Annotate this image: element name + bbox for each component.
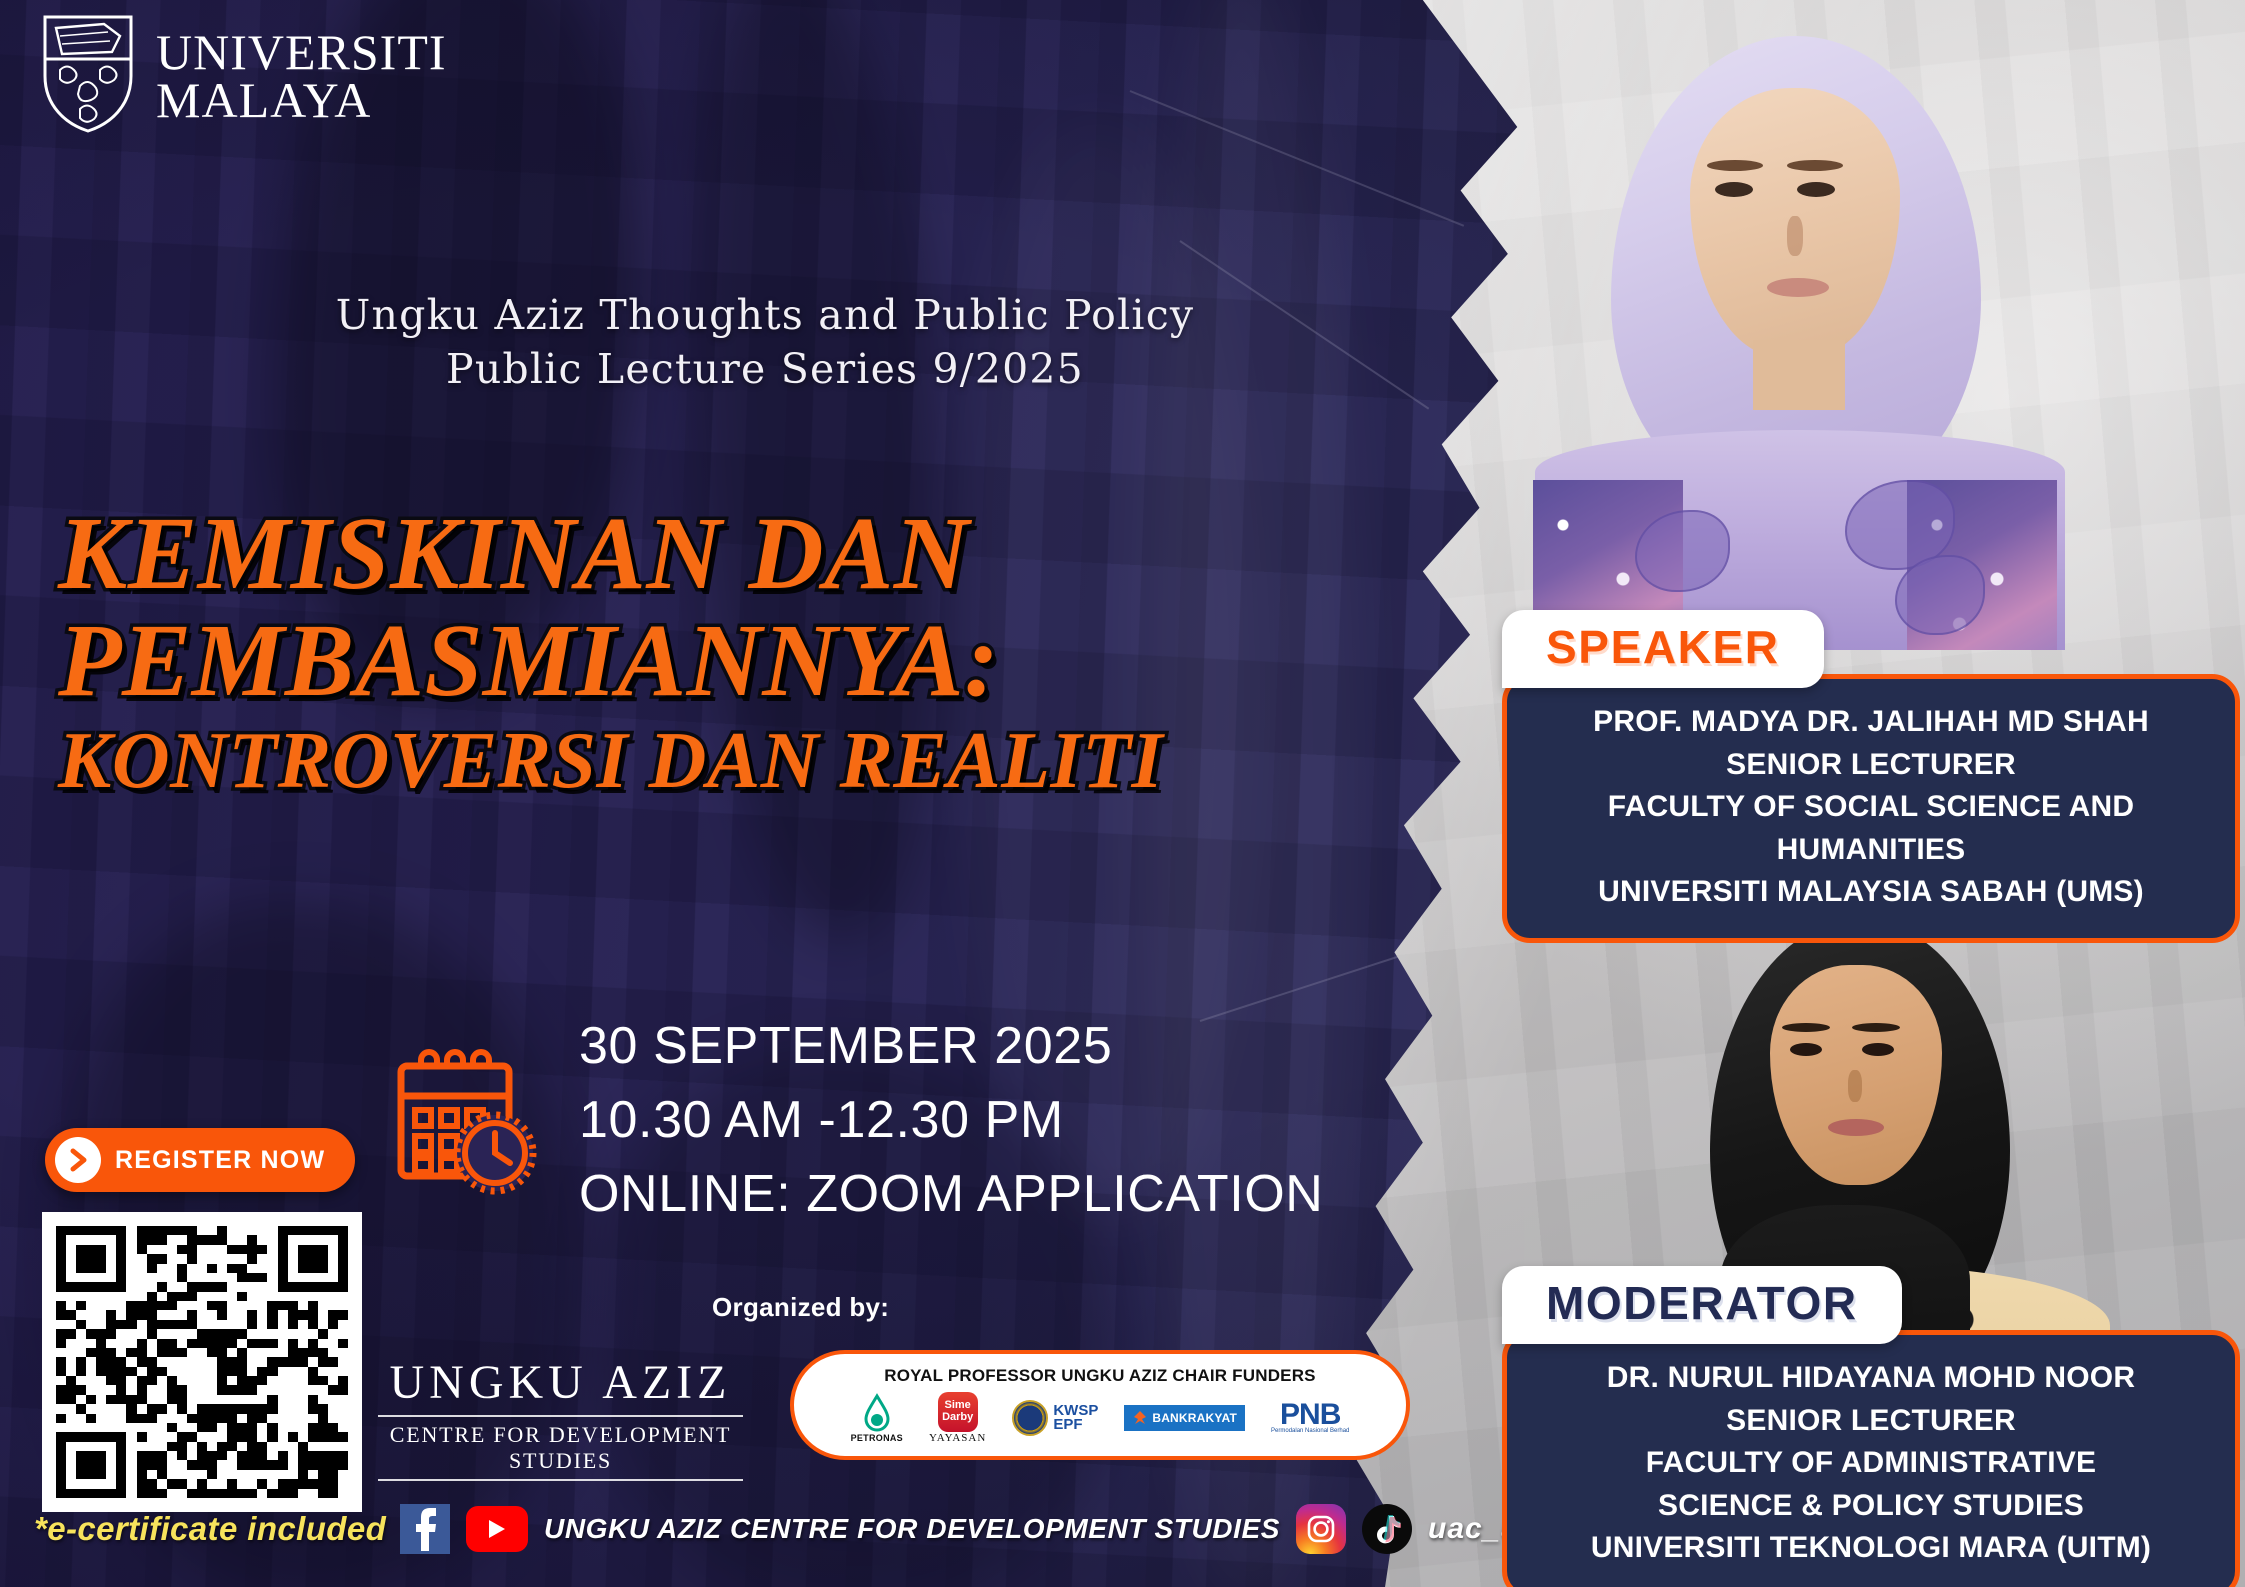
- moderator-brow: [1852, 1023, 1900, 1032]
- speaker-details: PROF. MADYA DR. JALIHAH MD SHAH SENIOR L…: [1502, 674, 2240, 943]
- main-title-line-1: KEMISKINAN DAN: [58, 500, 1408, 607]
- university-name-line2: MALAYA: [156, 77, 447, 125]
- uacds-logo-subtitle: CENTRE FOR DEVELOPMENT STUDIES: [378, 1422, 743, 1474]
- yayasan-label: YAYASAN: [929, 1432, 986, 1444]
- moderator-info-card: MODERATOR DR. NURUL HIDAYANA MOHD NOOR S…: [1502, 1266, 2240, 1587]
- rakyat-name2: RAKYAT: [1188, 1411, 1237, 1425]
- tiktok-icon[interactable]: [1362, 1504, 1412, 1554]
- qr-code-grid: [56, 1226, 348, 1498]
- event-details: 30 SEPTEMBER 2025 10.30 AM -12.30 PM ONL…: [385, 1010, 1323, 1231]
- main-title: KEMISKINAN DAN PEMBASMIANNYA: KONTROVERS…: [58, 500, 1408, 803]
- speaker-brow: [1787, 160, 1843, 171]
- main-title-line-3: KONTROVERSI DAN REALITI: [58, 720, 1408, 802]
- main-title-line-2: PEMBASMIANNYA:: [58, 607, 1408, 714]
- speaker-faculty: FACULTY OF SOCIAL SCIENCE AND HUMANITIES: [1527, 786, 2215, 871]
- petronas-logo-icon: PETRONAS: [851, 1393, 903, 1443]
- rakyat-name1: BANK: [1152, 1411, 1187, 1425]
- speaker-brow: [1707, 160, 1763, 171]
- speaker-tab-label: SPEAKER: [1546, 621, 1780, 673]
- speaker-lips: [1767, 278, 1829, 297]
- organized-by-label: Organized by:: [712, 1292, 889, 1323]
- speaker-eye: [1715, 182, 1753, 197]
- event-date: 30 SEPTEMBER 2025: [579, 1010, 1323, 1084]
- speaker-info-card: SPEAKER PROF. MADYA DR. JALIHAH MD SHAH …: [1502, 610, 2240, 943]
- pnb-sublabel: Permodalan Nasional Berhad: [1271, 1428, 1349, 1434]
- qr-code-icon[interactable]: [42, 1212, 362, 1512]
- moderator-position: SENIOR LECTURER: [1527, 1400, 2215, 1443]
- instagram-icon[interactable]: [1296, 1504, 1346, 1554]
- event-poster: UNIVERSITI MALAYA Ungku Aziz Thoughts an…: [0, 0, 2245, 1587]
- pnb-label: PNB: [1280, 1402, 1340, 1428]
- series-line-1: Ungku Aziz Thoughts and Public Policy: [205, 288, 1325, 342]
- speaker-neck: [1753, 340, 1845, 410]
- register-now-button[interactable]: REGISTER NOW: [45, 1128, 355, 1192]
- speaker-institution: UNIVERSITI MALAYSIA SABAH (UMS): [1527, 871, 2215, 914]
- sime-line2: Darby: [942, 1411, 973, 1423]
- speaker-nose: [1787, 216, 1803, 256]
- speaker-tab: SPEAKER: [1502, 610, 1824, 688]
- lecture-series-title: Ungku Aziz Thoughts and Public Policy Pu…: [205, 288, 1325, 396]
- moderator-nose: [1848, 1070, 1862, 1102]
- sime-line1: Sime: [945, 1399, 971, 1411]
- social-media-footer: UNGKU AZIZ CENTRE FOR DEVELOPMENT STUDIE…: [400, 1504, 1547, 1554]
- moderator-faculty-line1: FACULTY OF ADMINISTRATIVE: [1527, 1442, 2215, 1485]
- kwsp-epf-logo-icon: KWSP EPF: [1012, 1400, 1098, 1436]
- petronas-label: PETRONAS: [851, 1433, 903, 1443]
- uacds-logo-rule: [378, 1415, 743, 1417]
- university-logo: UNIVERSITI MALAYA: [42, 14, 447, 139]
- kwsp-line2: EPF: [1053, 1418, 1098, 1432]
- social-handle-main: UNGKU AZIZ CENTRE FOR DEVELOPMENT STUDIE…: [544, 1513, 1280, 1545]
- moderator-brow: [1782, 1023, 1830, 1032]
- uacds-logo-rule: [378, 1479, 743, 1481]
- calendar-clock-icon: [385, 1038, 545, 1203]
- uacds-logo-name: UNGKU AZIZ: [378, 1355, 743, 1410]
- university-name-line1: UNIVERSITI: [156, 29, 447, 77]
- ecertificate-note: *e-certificate included: [34, 1510, 386, 1548]
- moderator-lips: [1828, 1119, 1884, 1136]
- moderator-tab: MODERATOR: [1502, 1266, 1902, 1344]
- speaker-name: PROF. MADYA DR. JALIHAH MD SHAH: [1527, 701, 2215, 744]
- facebook-icon[interactable]: [400, 1504, 450, 1554]
- sime-darby-logo-icon: Sime Darby YAYASAN: [929, 1392, 986, 1444]
- event-time: 10.30 AM -12.30 PM: [579, 1084, 1323, 1158]
- funders-title: ROYAL PROFESSOR UNGKU AZIZ CHAIR FUNDERS: [884, 1366, 1315, 1386]
- ungku-aziz-centre-logo: UNGKU AZIZ CENTRE FOR DEVELOPMENT STUDIE…: [378, 1355, 743, 1486]
- moderator-faculty-line2: SCIENCE & POLICY STUDIES: [1527, 1485, 2215, 1528]
- um-shield-crest-icon: [42, 14, 134, 139]
- youtube-icon[interactable]: [466, 1506, 528, 1552]
- moderator-name: DR. NURUL HIDAYANA MOHD NOOR: [1527, 1357, 2215, 1400]
- kwsp-seal: [1012, 1400, 1048, 1436]
- series-line-2: Public Lecture Series 9/2025: [205, 342, 1325, 396]
- moderator-institution: UNIVERSITI TEKNOLOGI MARA (UITM): [1527, 1527, 2215, 1570]
- register-now-label: REGISTER NOW: [115, 1146, 325, 1175]
- chevron-right-circle-icon: [55, 1137, 101, 1183]
- speaker-portrait-photo: [1515, 10, 2075, 650]
- moderator-details: DR. NURUL HIDAYANA MOHD NOOR SENIOR LECT…: [1502, 1330, 2240, 1587]
- moderator-eye: [1862, 1043, 1894, 1056]
- bank-rakyat-logo-icon: BANKRAKYAT: [1124, 1405, 1245, 1431]
- pnb-logo-icon: PNB Permodalan Nasional Berhad: [1271, 1402, 1349, 1434]
- moderator-eye: [1790, 1043, 1822, 1056]
- moderator-tab-label: MODERATOR: [1546, 1277, 1858, 1329]
- speaker-position: SENIOR LECTURER: [1527, 744, 2215, 787]
- chair-funders-panel: ROYAL PROFESSOR UNGKU AZIZ CHAIR FUNDERS…: [790, 1350, 1410, 1460]
- speaker-eye: [1797, 182, 1835, 197]
- event-platform: ONLINE: ZOOM APPLICATION: [579, 1158, 1323, 1232]
